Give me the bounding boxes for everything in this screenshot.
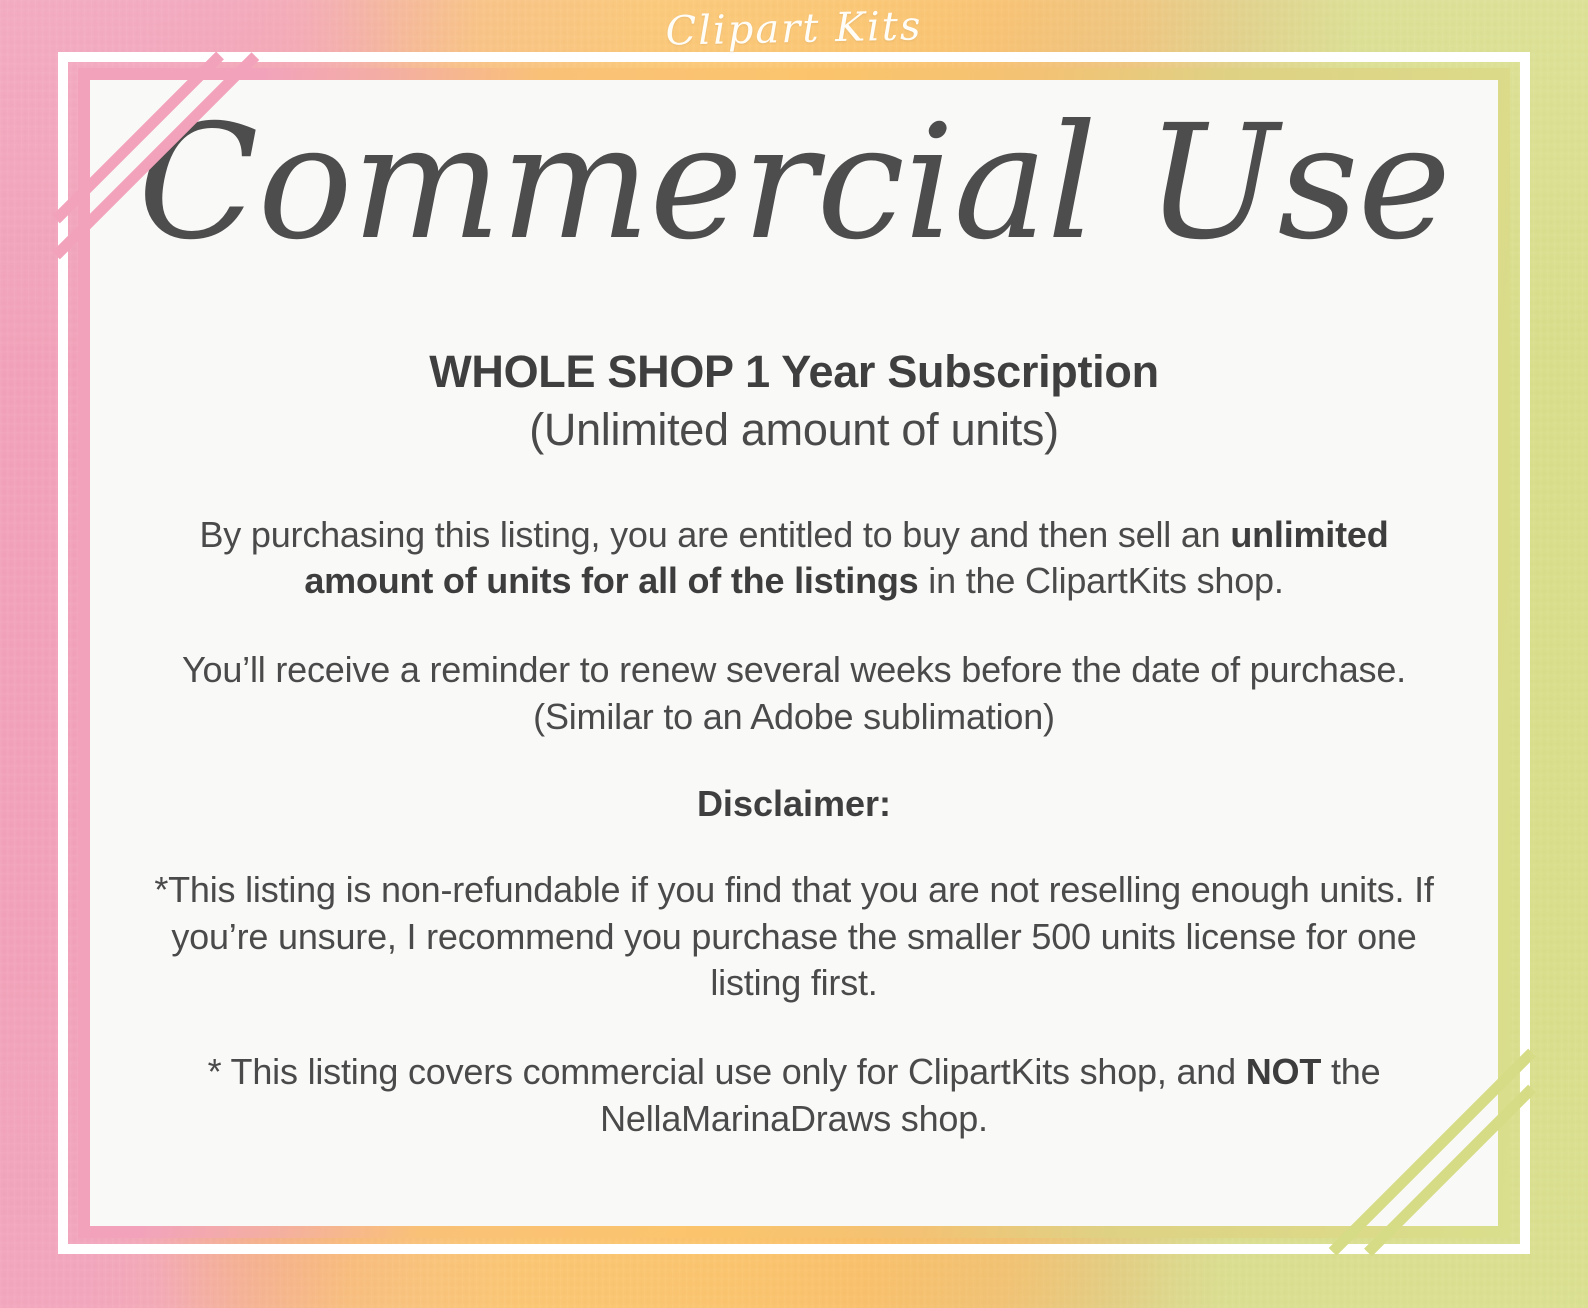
paragraph-renewal: You’ll receive a reminder to renew sever… (132, 647, 1456, 741)
paragraph-entitlement: By purchasing this listing, you are enti… (132, 512, 1456, 606)
poster: Clipart Kits Commercial Use WHOLE SHOP 1… (0, 0, 1588, 1308)
paragraph-entitlement-text-1: By purchasing this listing, you are enti… (199, 514, 1230, 555)
paragraph-scope-emphasis: NOT (1246, 1051, 1321, 1092)
subscription-subheading: (Unlimited amount of units) (132, 403, 1456, 456)
paragraph-entitlement-text-2: in the ClipartKits shop. (919, 560, 1284, 601)
content-panel: Commercial Use WHOLE SHOP 1 Year Subscri… (90, 80, 1498, 1226)
paragraph-scope-text-1: * This listing covers commercial use onl… (208, 1051, 1246, 1092)
content-wrapper: Commercial Use WHOLE SHOP 1 Year Subscri… (90, 80, 1498, 1226)
disclaimer-label: Disclaimer: (132, 783, 1456, 825)
page-title: Commercial Use (132, 100, 1456, 267)
subscription-heading: WHOLE SHOP 1 Year Subscription (132, 345, 1456, 398)
paragraph-scope: * This listing covers commercial use onl… (132, 1049, 1456, 1143)
paragraph-refund-policy: *This listing is non-refundable if you f… (132, 867, 1456, 1007)
